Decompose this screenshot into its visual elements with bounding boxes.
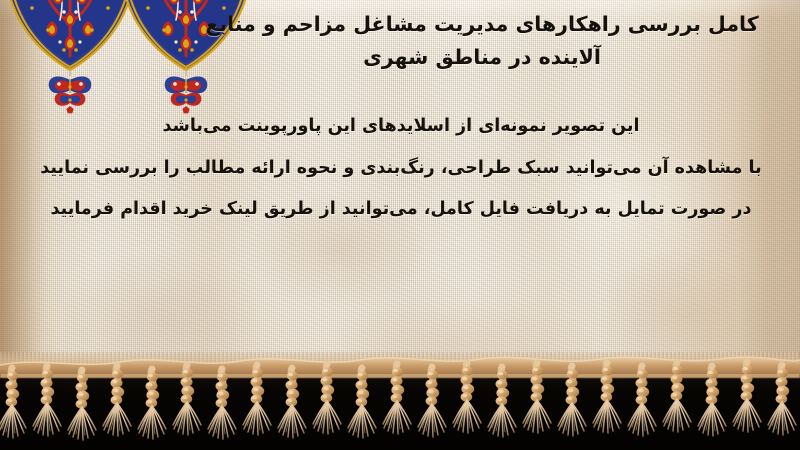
slide-body-line-1: این تصویر نمونه‌ای از اسلایدهای این پاور…: [16, 106, 786, 148]
slide-title: کامل بررسی راهکارهای مدیریت مشاغل مزاحم …: [182, 8, 782, 74]
slide-body-line-3: در صورت تمایل به دریافت فایل کامل، می‌تو…: [16, 189, 786, 231]
slide-canvas: کامل بررسی راهکارهای مدیریت مشاغل مزاحم …: [0, 0, 800, 450]
slide-body: این تصویر نمونه‌ای از اسلایدهای این پاور…: [16, 106, 786, 231]
slide-title-line-2: آلاینده در مناطق شهری: [182, 41, 782, 74]
slide-title-line-1: کامل بررسی راهکارهای مدیریت مشاغل مزاحم …: [182, 8, 782, 41]
carpet-tassel-fringe-icon: [0, 344, 800, 450]
slide-body-line-2: با مشاهده آن می‌توانید سبک طراحی، رنگ‌بن…: [16, 148, 786, 190]
